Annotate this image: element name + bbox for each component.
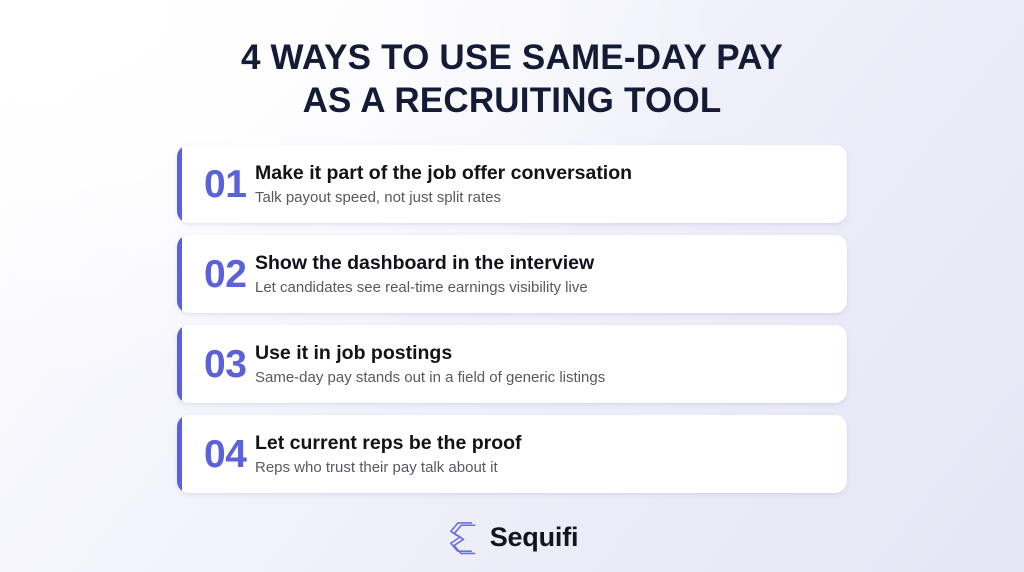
- card-subtitle: Reps who trust their pay talk about it: [255, 458, 829, 478]
- list-item[interactable]: 04 Let current reps be the proof Reps wh…: [177, 415, 847, 493]
- card-subtitle: Let candidates see real-time earnings vi…: [255, 278, 829, 298]
- page-title-line-1: 4 WAYS TO USE SAME-DAY PAY: [241, 38, 783, 77]
- card-heading: Make it part of the job offer conversati…: [255, 161, 829, 185]
- brand-name: Sequifi: [490, 524, 579, 551]
- page-title-line-2: AS A RECRUITING TOOL: [241, 81, 783, 120]
- card-text: Use it in job postings Same-day pay stan…: [255, 341, 847, 388]
- card-number: 01: [177, 165, 255, 204]
- card-accent-bar: [177, 145, 182, 223]
- card-number: 04: [177, 435, 255, 474]
- card-subtitle: Talk payout speed, not just split rates: [255, 188, 829, 208]
- tips-list: 01 Make it part of the job offer convers…: [177, 145, 847, 493]
- card-heading: Show the dashboard in the interview: [255, 251, 829, 275]
- card-text: Let current reps be the proof Reps who t…: [255, 431, 847, 478]
- card-number: 03: [177, 345, 255, 384]
- page-title: 4 WAYS TO USE SAME-DAY PAY AS A RECRUITI…: [241, 38, 783, 120]
- card-subtitle: Same-day pay stands out in a field of ge…: [255, 368, 829, 388]
- list-item[interactable]: 02 Show the dashboard in the interview L…: [177, 235, 847, 313]
- infographic-poster: 4 WAYS TO USE SAME-DAY PAY AS A RECRUITI…: [0, 0, 1024, 572]
- card-accent-bar: [177, 235, 182, 313]
- card-heading: Let current reps be the proof: [255, 431, 829, 455]
- list-item[interactable]: 01 Make it part of the job offer convers…: [177, 145, 847, 223]
- card-accent-bar: [177, 325, 182, 403]
- card-accent-bar: [177, 415, 182, 493]
- sequifi-s-zigzag-icon: [446, 519, 479, 555]
- card-number: 02: [177, 255, 255, 294]
- card-text: Show the dashboard in the interview Let …: [255, 251, 847, 298]
- list-item[interactable]: 03 Use it in job postings Same-day pay s…: [177, 325, 847, 403]
- card-heading: Use it in job postings: [255, 341, 829, 365]
- brand-footer: Sequifi: [446, 519, 579, 555]
- card-text: Make it part of the job offer conversati…: [255, 161, 847, 208]
